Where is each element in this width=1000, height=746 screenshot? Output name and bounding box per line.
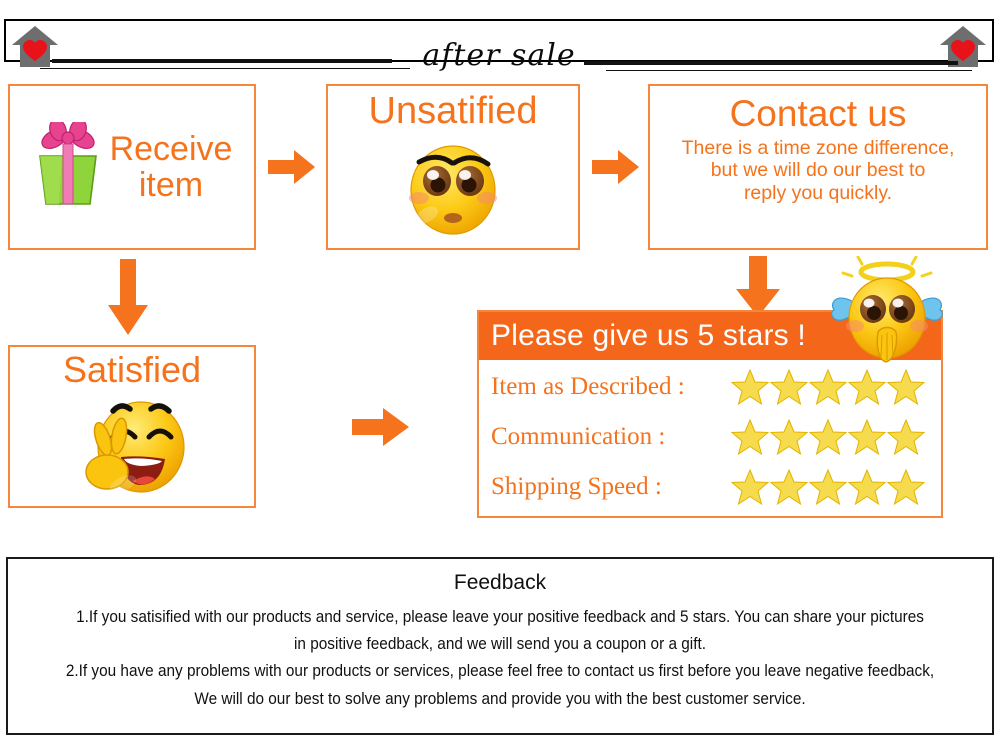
contact-us-box: Contact us There is a time zone differen… [648,84,988,250]
star-rating[interactable] [731,418,925,456]
rating-label: Item as Described : [491,373,685,401]
receive-item-box: Receive item [8,84,256,250]
rating-row: Communication : [491,418,931,456]
banner-title: after sale [6,41,992,71]
praying-angel-emoji [828,256,946,366]
laughing-peace-sign-emoji [69,389,195,506]
arrow-down-icon [735,256,781,318]
arrow-down-icon [107,259,149,337]
feedback-line: We will do our best to solve any problem… [42,686,957,713]
feedback-line: in positive feedback, and we will send y… [42,631,957,658]
satisfied-box: Satisfied [8,345,256,508]
unsatisfied-label: Unsatified [369,92,538,132]
feedback-line: 2.If you have any problems with our prod… [42,658,957,685]
arrow-right-icon [352,405,410,449]
contact-us-title: Contact us [730,94,907,135]
contact-us-body: There is a time zone difference, but we … [682,137,955,205]
rating-row: Shipping Speed : [491,468,931,506]
star-rating[interactable] [731,468,925,506]
rating-label: Shipping Speed : [491,473,662,501]
unsatisfied-box: Unsatified [326,84,580,250]
rating-rows: Item as Described : Communication : Ship… [479,360,941,516]
worried-face-emoji [397,132,509,245]
gift-box-icon [32,122,104,213]
receive-item-label: Receive item [110,131,233,203]
arrow-right-icon [592,147,640,187]
feedback-line: 1.If you satisified with our products an… [42,604,957,631]
arrow-right-icon [268,147,316,187]
rating-row: Item as Described : [491,368,931,406]
feedback-title: Feedback [8,571,992,595]
star-rating[interactable] [731,368,925,406]
header-banner: after sale [4,19,994,62]
feedback-box: Feedback 1.If you satisified with our pr… [6,557,994,735]
rating-label: Communication : [491,423,665,451]
satisfied-label: Satisfied [63,351,201,389]
